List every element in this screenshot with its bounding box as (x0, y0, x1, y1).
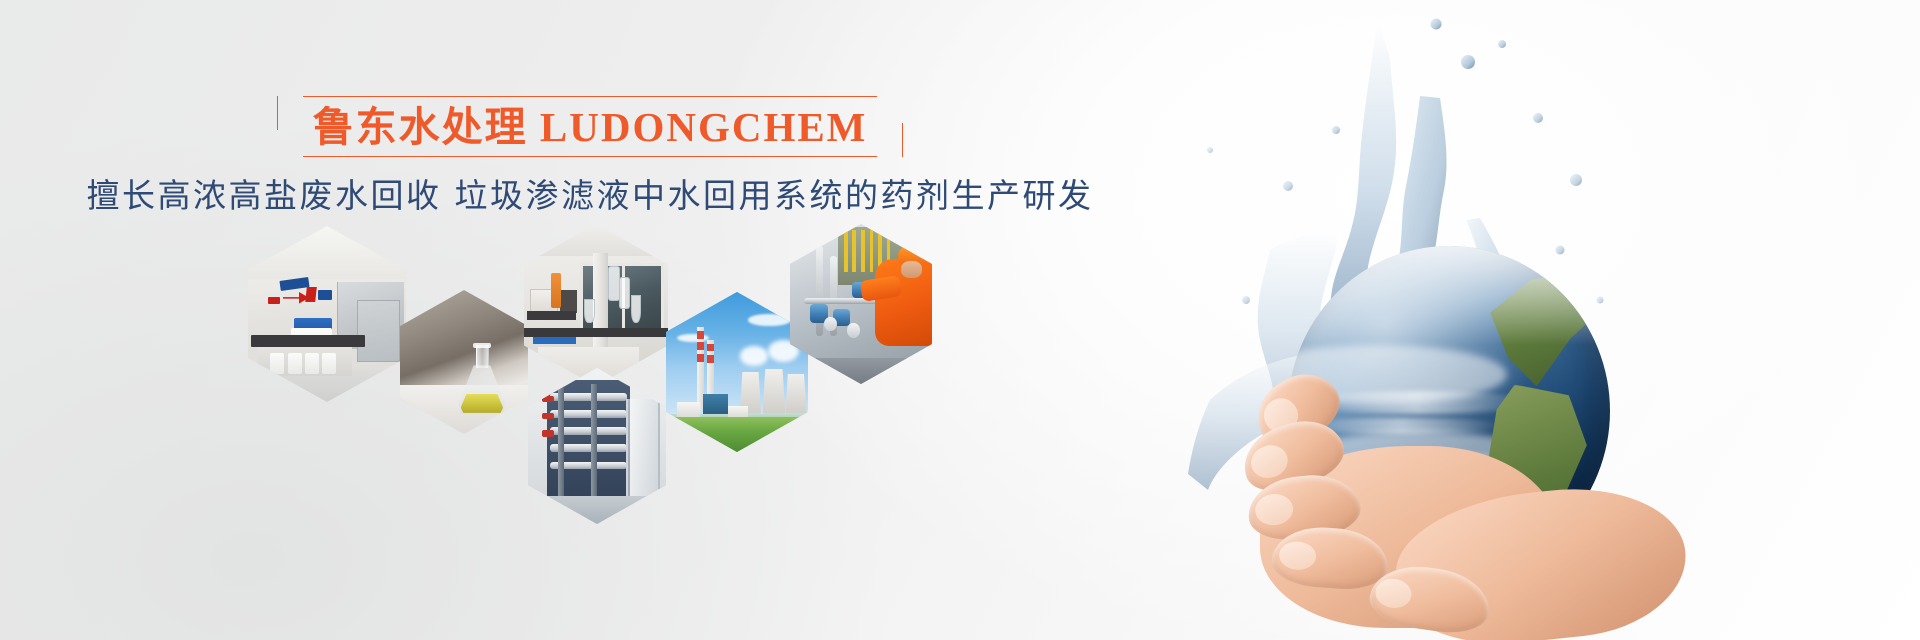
water-splash-icon (1060, 0, 1920, 640)
power-plant-photo (666, 292, 808, 452)
hands-holding-globe (1220, 372, 1690, 640)
earth-globe (1288, 246, 1610, 576)
palm-upper (1389, 477, 1693, 640)
ro-membrane-skid-photo (528, 368, 666, 524)
wall-slogan-graphic (265, 279, 338, 318)
hex-tile-worker-valves[interactable] (790, 224, 932, 384)
finger-4 (1270, 524, 1390, 592)
hero-banner: 鲁东水处理 LUDONGCHEM 擅长高浓高盐废水回收 垃圾渗滤液中水回用系统的… (0, 0, 1920, 640)
hex-tile-yellow-liquid-flask[interactable] (400, 290, 528, 434)
finger-3 (1245, 470, 1363, 543)
hex-tile-power-plant[interactable] (666, 292, 808, 452)
palm-lower (1260, 446, 1560, 628)
lab-glassware-photo (524, 224, 668, 386)
landmass-south (1468, 385, 1597, 563)
hexagon-photo-cluster (0, 0, 1080, 640)
thumb (1366, 560, 1493, 638)
landmass-north (1475, 272, 1604, 391)
globe-sphere (1288, 246, 1610, 576)
water-globe-artwork (1060, 0, 1920, 640)
hex-tile-laboratory-room[interactable] (248, 226, 406, 402)
hex-tile-lab-glassware[interactable] (524, 224, 668, 386)
hex-tile-ro-membrane-skid[interactable] (528, 368, 666, 524)
yellow-liquid-flask-photo (400, 290, 528, 434)
worker-valves-photo (790, 224, 932, 384)
finger-2 (1235, 410, 1351, 500)
finger-1 (1244, 360, 1350, 458)
laboratory-room-photo (248, 226, 406, 402)
